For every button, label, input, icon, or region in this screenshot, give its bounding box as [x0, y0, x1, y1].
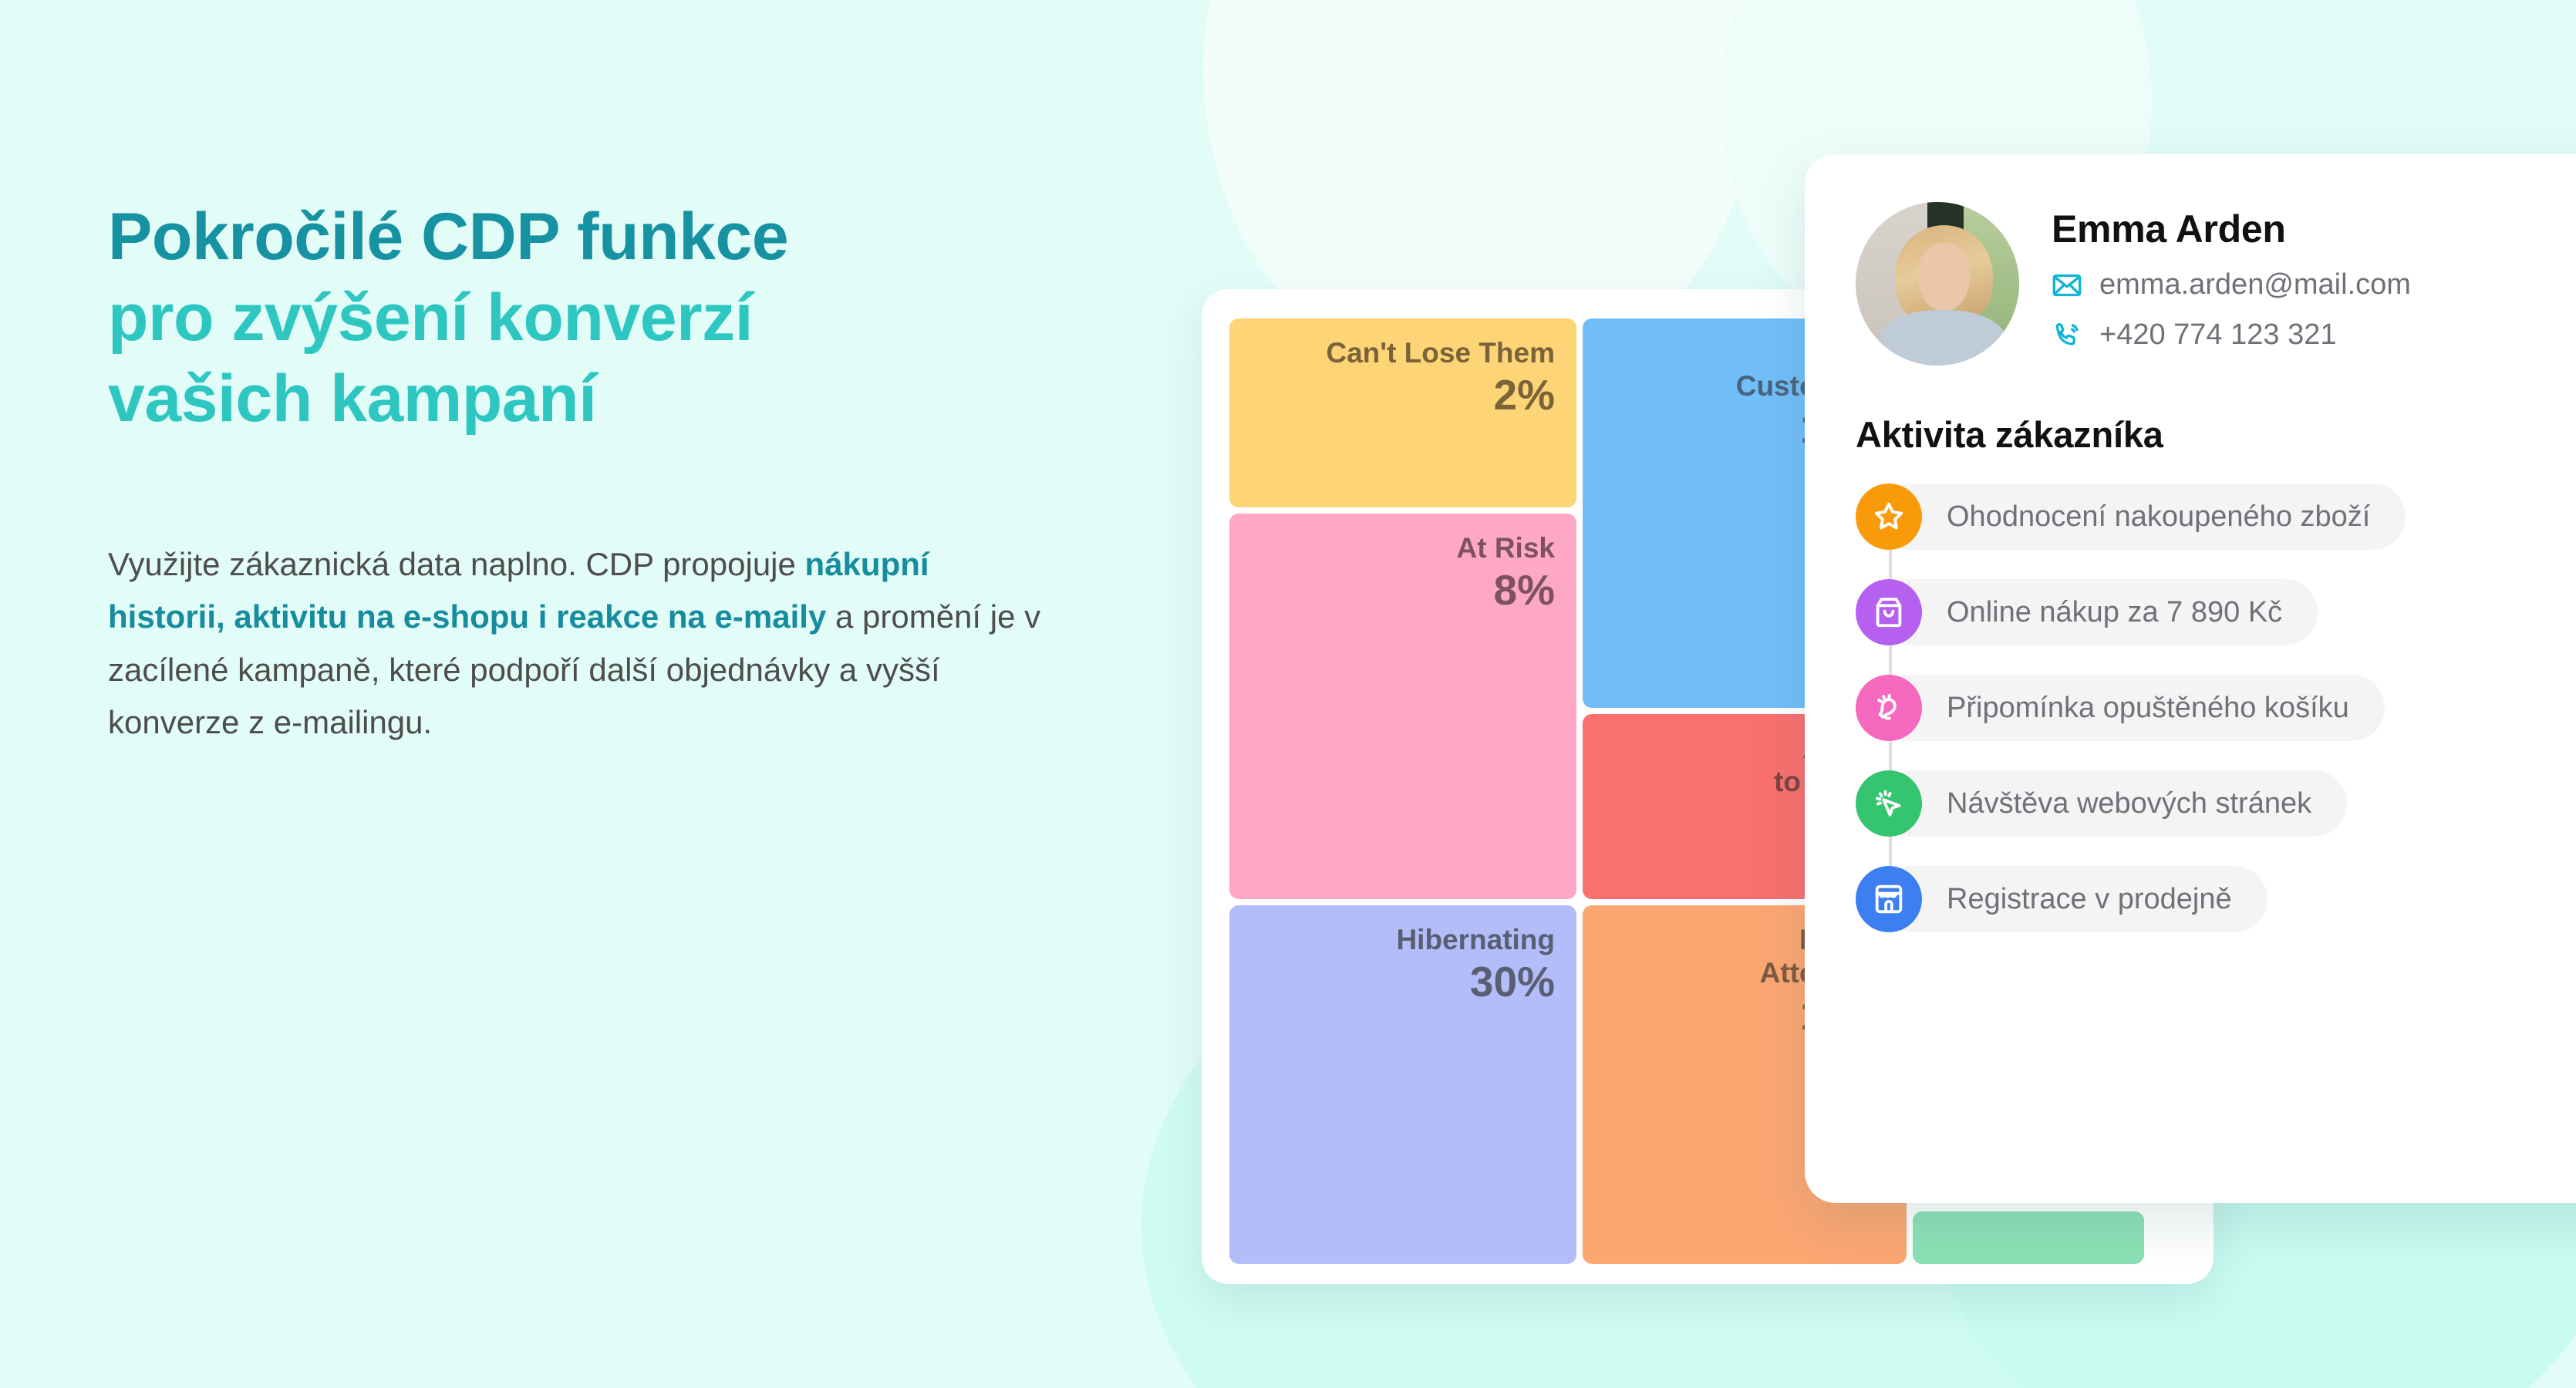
headline-line-2: pro zvýšení konverzí [108, 278, 1126, 359]
tile-value: 2% [1494, 372, 1556, 419]
activity-pill: Ohodnocení nakoupeného zboží [1879, 483, 2406, 550]
hero-paragraph: Využijte zákaznická data naplno. CDP pro… [108, 538, 1041, 750]
phone-icon [2052, 320, 2082, 351]
list-item[interactable]: Připomínka opuštěného košíku [1856, 675, 2576, 741]
activity-pill: Registrace v prodejně [1879, 866, 2267, 932]
list-item[interactable]: Návštěva webových stránek [1856, 770, 2576, 837]
avatar [1856, 202, 2019, 366]
list-item[interactable]: Online nákup za 7 890 Kč [1856, 579, 2576, 645]
tile-label: Hibernating [1396, 924, 1555, 957]
hero-text-column: Pokročilé CDP funkce pro zvýšení konverz… [108, 197, 1126, 750]
tile-label: Can't Lose Them [1326, 337, 1555, 370]
customer-header: Emma Arden emma.arden@mail.com [1856, 202, 2576, 366]
activity-pill: Připomínka opuštěného košíku [1879, 675, 2385, 741]
treemap-tile-at-risk[interactable]: At Risk 8% [1229, 514, 1576, 899]
customer-email-row[interactable]: emma.arden@mail.com [2052, 268, 2411, 302]
activity-label: Ohodnocení nakoupeného zboží [1947, 500, 2370, 534]
list-item[interactable]: Ohodnocení nakoupeného zboží [1856, 483, 2576, 550]
activity-label: Registrace v prodejně [1947, 883, 2232, 916]
customer-name: Emma Arden [2052, 207, 2411, 251]
customer-email: emma.arden@mail.com [2099, 268, 2411, 302]
bell-icon [1856, 675, 1922, 741]
page-title: Pokročilé CDP funkce pro zvýšení konverz… [108, 197, 1126, 440]
customer-phone-row[interactable]: +420 774 123 321 [2052, 318, 2411, 352]
tile-value: 30% [1470, 958, 1555, 1006]
customer-contact-block: Emma Arden emma.arden@mail.com [2052, 202, 2411, 352]
treemap-tile-hibernating[interactable]: Hibernating 30% [1229, 905, 1576, 1264]
customer-phone: +420 774 123 321 [2099, 318, 2336, 352]
star-icon [1856, 483, 1922, 550]
paragraph-part-1: Využijte zákaznická data naplno. CDP pro… [108, 546, 805, 582]
activity-pill: Návštěva webových stránek [1879, 770, 2347, 837]
activity-section-title: Aktivita zákazníka [1856, 413, 2576, 456]
list-item[interactable]: Registrace v prodejně [1856, 866, 2576, 932]
avatar-body [1879, 310, 2006, 366]
activity-pill: Online nákup za 7 890 Kč [1879, 579, 2318, 645]
avatar-face [1918, 243, 1971, 312]
store-icon [1856, 866, 1922, 932]
tile-label: At Risk [1457, 532, 1555, 565]
activity-label: Online nákup za 7 890 Kč [1947, 596, 2282, 629]
cursor-icon [1856, 770, 1922, 837]
treemap-tile-cant-lose-them[interactable]: Can't Lose Them 2% [1229, 318, 1576, 507]
hero-section: Pokročilé CDP funkce pro zvýšení konverz… [0, 0, 2576, 1388]
tile-value: 8% [1494, 567, 1556, 614]
envelope-icon [2052, 270, 2082, 301]
activity-label: Připomínka opuštěného košíku [1947, 692, 2349, 725]
activity-label: Návštěva webových stránek [1947, 787, 2311, 820]
customer-profile-card: Emma Arden emma.arden@mail.com [1805, 154, 2576, 1203]
treemap-tile-occluded-green[interactable] [1913, 1211, 2144, 1264]
headline-line-1: Pokročilé CDP funkce [108, 197, 1126, 278]
bag-icon [1856, 579, 1922, 645]
customer-activity-list: Ohodnocení nakoupeného zboží Online náku… [1856, 483, 2576, 932]
headline-line-3: vašich kampaní [108, 359, 1126, 440]
